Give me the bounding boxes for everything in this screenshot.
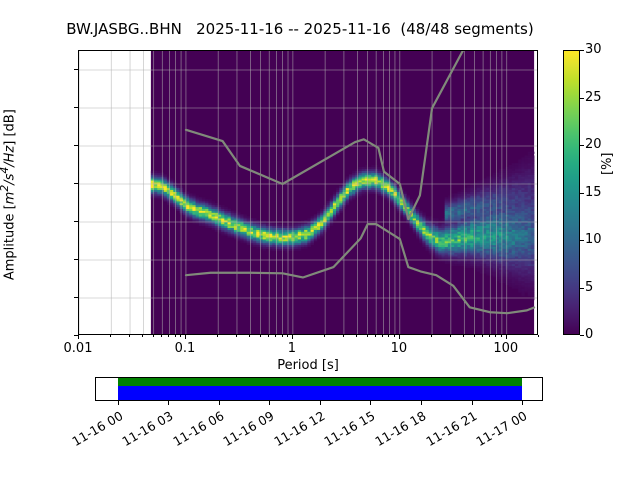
- x-axis-minor-tick: [168, 335, 169, 337]
- timeline-tick-label: 11-16 00: [64, 408, 125, 452]
- x-axis-tick-mark: [292, 335, 293, 339]
- colorbar-label: [%]: [600, 153, 615, 176]
- x-axis-minor-tick: [343, 335, 344, 337]
- timeline-tick-mark: [118, 401, 119, 405]
- x-axis-minor-tick: [175, 335, 176, 337]
- ppsd-plot-area[interactable]: [78, 50, 538, 335]
- x-axis-minor-tick: [388, 335, 389, 337]
- x-axis-minor-tick: [482, 335, 483, 337]
- colorbar-tick-mark: [580, 145, 584, 146]
- x-axis-minor-tick: [367, 335, 368, 337]
- x-axis-tick-mark: [399, 335, 400, 339]
- y-axis-tick-mark: [74, 221, 78, 222]
- x-axis-minor-tick: [249, 335, 250, 337]
- y-axis-label: Amplitude [m2/s4/Hz] [dB]: [0, 60, 18, 330]
- colorbar-tick-label: 0: [585, 327, 593, 342]
- y-axis-tick-mark: [74, 183, 78, 184]
- timeline-tick-mark: [472, 401, 473, 405]
- x-axis-tick-label: 10: [364, 341, 434, 356]
- x-axis-label: Period [s]: [78, 358, 538, 373]
- timeline-coverage-box[interactable]: [95, 377, 543, 401]
- x-axis-tick-mark: [185, 335, 186, 339]
- colorbar-tick-label: 25: [585, 90, 602, 105]
- colorbar-tick-label: 20: [585, 137, 602, 152]
- x-axis-minor-tick: [495, 335, 496, 337]
- x-axis-minor-tick: [142, 335, 143, 337]
- x-axis-minor-tick: [153, 335, 154, 337]
- y-axis-tick-mark: [74, 297, 78, 298]
- x-axis-minor-tick: [180, 335, 181, 337]
- timeline-tick-label: 11-16 03: [115, 408, 176, 452]
- timeline-tick-label: 11-16 12: [266, 408, 327, 452]
- x-axis-minor-tick: [110, 335, 111, 337]
- colorbar-gradient: [564, 51, 579, 334]
- x-axis-tick-label: 0.01: [43, 341, 113, 356]
- colorbar-tick-mark: [580, 50, 584, 51]
- y-axis-tick-mark: [74, 145, 78, 146]
- colorbar-tick-label: 10: [585, 232, 602, 247]
- x-axis-minor-tick: [394, 335, 395, 337]
- x-axis-minor-tick: [431, 335, 432, 337]
- y-axis-tick-mark: [74, 259, 78, 260]
- y-axis-tick-mark: [74, 69, 78, 70]
- timeline-tick-label: 11-16 06: [165, 408, 226, 452]
- colorbar-tick-label: 30: [585, 42, 602, 57]
- x-axis-minor-tick: [450, 335, 451, 337]
- x-axis-tick-mark: [78, 335, 79, 339]
- timeline-tick-label: 11-16 09: [216, 408, 277, 452]
- timeline-tick-label: 11-16 21: [418, 408, 479, 452]
- x-axis-minor-tick: [287, 335, 288, 337]
- colorbar-tick-mark: [580, 193, 584, 194]
- timeline-tick-mark: [522, 401, 523, 405]
- x-axis-minor-tick: [260, 335, 261, 337]
- x-axis-minor-tick: [382, 335, 383, 337]
- colorbar-tick-mark: [580, 98, 584, 99]
- x-axis-minor-tick: [501, 335, 502, 337]
- x-axis-minor-tick: [474, 335, 475, 337]
- x-axis-minor-tick: [538, 335, 539, 337]
- x-axis-tick-label: 100: [471, 341, 541, 356]
- timeline-coverage-blue: [118, 386, 522, 400]
- timeline-tick-mark: [320, 401, 321, 405]
- x-axis-minor-tick: [268, 335, 269, 337]
- x-axis-minor-tick: [217, 335, 218, 337]
- colorbar-tick-mark: [580, 288, 584, 289]
- timeline-tick-label: 11-17 00: [468, 408, 529, 452]
- timeline-tick-mark: [269, 401, 270, 405]
- x-axis-minor-tick: [129, 335, 130, 337]
- timeline-tick-label: 11-16 18: [367, 408, 428, 452]
- timeline-tick-mark: [421, 401, 422, 405]
- x-axis-tick-mark: [506, 335, 507, 339]
- x-axis-tick-label: 0.1: [150, 341, 220, 356]
- x-axis-minor-tick: [161, 335, 162, 337]
- timeline-tick-mark: [219, 401, 220, 405]
- x-axis-minor-tick: [236, 335, 237, 337]
- colorbar-tick-mark: [580, 240, 584, 241]
- x-axis-minor-tick: [463, 335, 464, 337]
- x-axis-minor-tick: [489, 335, 490, 337]
- colorbar-tick-label: 15: [585, 185, 602, 200]
- x-axis-minor-tick: [356, 335, 357, 337]
- timeline-tick-mark: [370, 401, 371, 405]
- page-title: BW.JASBG..BHN 2025-11-16 -- 2025-11-16 (…: [0, 20, 600, 38]
- timeline-coverage-green: [118, 378, 522, 386]
- x-axis-minor-tick: [375, 335, 376, 337]
- y-axis-tick-mark: [74, 107, 78, 108]
- y-axis-label-container: Amplitude [m2/s4/Hz] [dB]: [0, 50, 18, 335]
- timeline-tick-label: 11-16 15: [317, 408, 378, 452]
- x-axis-tick-label: 1: [257, 341, 327, 356]
- colorbar[interactable]: [563, 50, 580, 335]
- colorbar-tick-label: 5: [585, 280, 593, 295]
- x-axis-minor-tick: [275, 335, 276, 337]
- ppsd-histogram-canvas[interactable]: [79, 51, 537, 334]
- x-axis-minor-tick: [324, 335, 325, 337]
- colorbar-tick-mark: [580, 335, 584, 336]
- timeline-tick-mark: [168, 401, 169, 405]
- x-axis-minor-tick: [282, 335, 283, 337]
- ppsd-figure: BW.JASBG..BHN 2025-11-16 -- 2025-11-16 (…: [0, 0, 640, 480]
